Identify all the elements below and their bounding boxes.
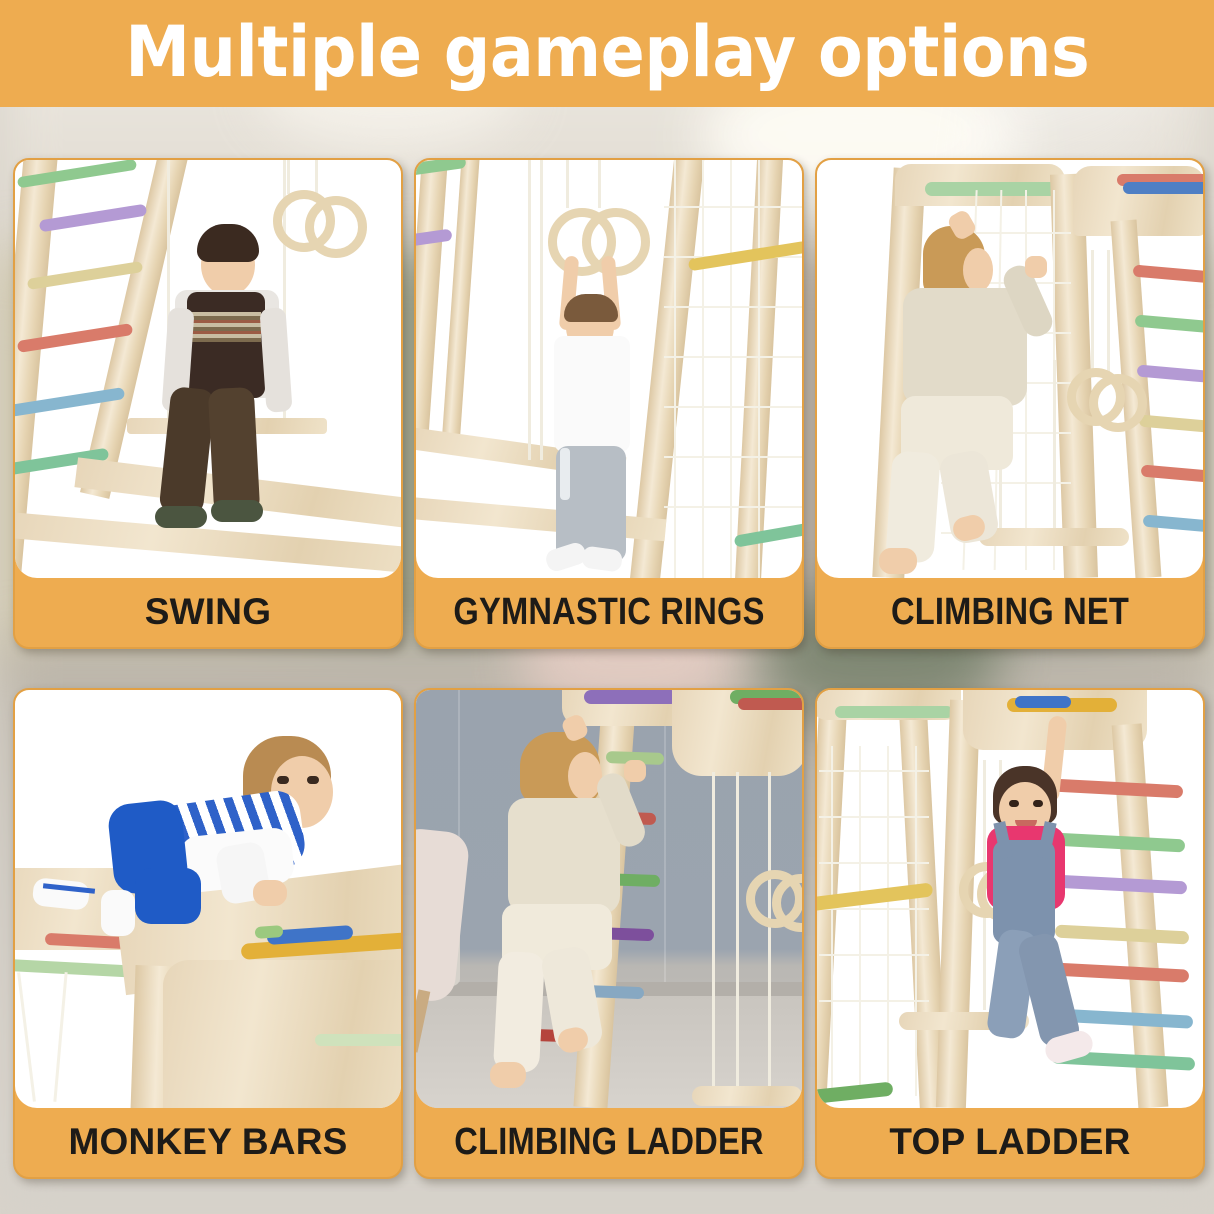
climbing-ladder-photo: [416, 690, 802, 1108]
swing-photo: [15, 160, 401, 578]
feature-card-climbing-ladder[interactable]: CLIMBING LADDER: [414, 688, 804, 1179]
feature-card-climbing-net[interactable]: CLIMBING NET: [815, 158, 1205, 649]
gymnastic-rings-photo: [416, 160, 802, 578]
feature-card-monkey-bars[interactable]: MONKEY BARS: [13, 688, 403, 1179]
card-label-climbing-ladder: CLIMBING LADDER: [443, 1107, 775, 1177]
card-label-climbing-net: CLIMBING NET: [844, 577, 1176, 647]
card-label-monkey-bars: MONKEY BARS: [15, 1107, 401, 1177]
feature-card-swing[interactable]: SWING: [13, 158, 403, 649]
top-ladder-photo: [817, 690, 1203, 1108]
card-label-gymnastic-rings: GYMNASTIC RINGS: [443, 577, 775, 647]
card-label-swing: SWING: [15, 577, 401, 647]
climbing-net-photo: [817, 160, 1203, 578]
monkey-bars-photo: [15, 690, 401, 1108]
feature-card-top-ladder[interactable]: TOP LADDER: [815, 688, 1205, 1179]
header-banner: Multiple gameplay options: [0, 0, 1214, 107]
page-title: Multiple gameplay options: [125, 17, 1089, 87]
feature-card-grid: SWING: [0, 107, 1214, 1214]
card-label-top-ladder: TOP LADDER: [817, 1107, 1203, 1177]
feature-card-gymnastic-rings[interactable]: GYMNASTIC RINGS: [414, 158, 804, 649]
